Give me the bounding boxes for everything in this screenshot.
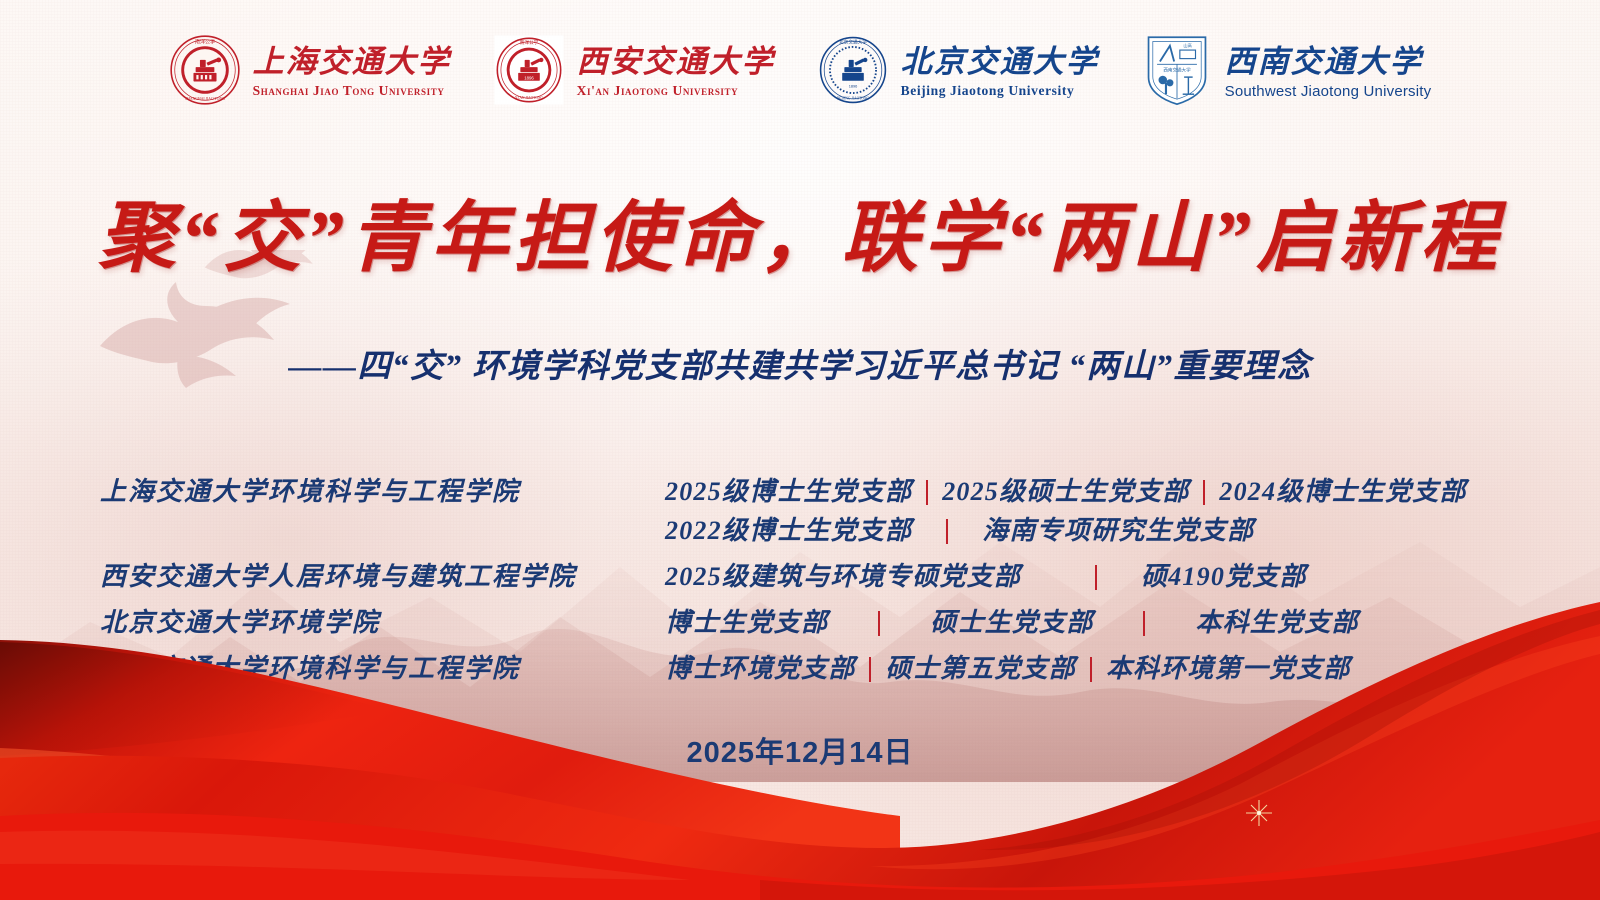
divider-icon bbox=[878, 611, 880, 636]
school-name: 西安交通大学人居环境与建筑工程学院 bbox=[100, 559, 665, 596]
branch-line: 2025级博士生党支部 2025级硕士生党支部 2024级博士生党支部 bbox=[665, 474, 1520, 511]
logo-text-group: 西安交通大学 Xi'an Jiaotong University bbox=[577, 46, 775, 98]
logo-name-cn: 西南交通大学 bbox=[1225, 46, 1423, 77]
branch-item: 2022级博士生党支部 bbox=[665, 513, 912, 550]
divider-icon bbox=[946, 519, 948, 544]
branch-item: 2024级博士生党支部 bbox=[1219, 474, 1466, 511]
poster-canvas: 南洋公学 SHANGHAI JIAO TONG 上海交通大学 Shanghai … bbox=[0, 0, 1600, 900]
logo-xian-jiaotong: 1896 南洋公学 XI'AN JIAOTONG 西安交通大学 Xi'an Ji… bbox=[493, 34, 775, 111]
divider-icon bbox=[1095, 565, 1097, 590]
logo-beijing-jiaotong: 1896 北京交通大学 BEIJING JIAOTONG 北京交通大学 Beij… bbox=[817, 34, 1099, 111]
divider-icon bbox=[1090, 657, 1092, 682]
main-title: 聚“交”青年担使命，联学“两山”启新程 bbox=[0, 176, 1600, 287]
branch-item: 2025级硕士生党支部 bbox=[942, 474, 1189, 511]
branch-list: 上海交通大学环境科学与工程学院 2025级博士生党支部 2025级硕士生党支部 … bbox=[100, 474, 1520, 697]
branch-item: 2025级建筑与环境专硕党支部 bbox=[665, 559, 1021, 596]
branch-group: 2025级建筑与环境专硕党支部 硕4190党支部 bbox=[665, 559, 1520, 596]
branch-row: 北京交通大学环境学院 博士生党支部 硕士生党支部 本科生党支部 bbox=[100, 605, 1520, 642]
branch-item: 博士生党支部 bbox=[665, 605, 828, 642]
logo-name-en: Shanghai Jiao Tong University bbox=[253, 84, 445, 98]
branch-line: 2025级建筑与环境专硕党支部 硕4190党支部 bbox=[665, 559, 1520, 596]
school-name: 西南交通大学环境科学与工程学院 bbox=[100, 651, 665, 688]
divider-icon bbox=[1203, 480, 1205, 505]
branch-line: 2022级博士生党支部 海南专项研究生党支部 bbox=[665, 513, 1520, 550]
svg-text:BEIJING JIAOTONG: BEIJING JIAOTONG bbox=[837, 96, 870, 100]
logo-name-cn: 上海交通大学 bbox=[253, 46, 451, 77]
sub-title: ——四“交” 环境学科党支部共建共学习近平总书记 “两山”重要理念 bbox=[0, 339, 1600, 387]
branch-item: 硕士第五党支部 bbox=[885, 651, 1075, 688]
southwest-jiaotong-emblem-icon: 山高 西南交通大学 bbox=[1141, 33, 1213, 112]
branch-item: 博士环境党支部 bbox=[665, 651, 855, 688]
branch-row: 上海交通大学环境科学与工程学院 2025级博士生党支部 2025级硕士生党支部 … bbox=[100, 474, 1520, 550]
branch-group: 博士环境党支部 硕士第五党支部 本科环境第一党支部 bbox=[665, 651, 1520, 688]
svg-text:XI'AN JIAOTONG: XI'AN JIAOTONG bbox=[515, 95, 544, 99]
divider-icon bbox=[926, 480, 928, 505]
logo-name-en: Beijing Jiaotong University bbox=[901, 84, 1075, 98]
divider-icon bbox=[869, 657, 871, 682]
shanghai-jiaotong-emblem-icon: 南洋公学 SHANGHAI JIAO TONG bbox=[169, 34, 241, 111]
branch-item: 本科生党支部 bbox=[1195, 605, 1358, 642]
xian-jiaotong-emblem-icon: 1896 南洋公学 XI'AN JIAOTONG bbox=[493, 34, 565, 111]
logo-name-en: Southwest Jiaotong University bbox=[1225, 84, 1432, 99]
branch-item: 硕士生党支部 bbox=[930, 605, 1093, 642]
branch-item: 海南专项研究生党支部 bbox=[982, 513, 1254, 550]
logo-name-cn: 北京交通大学 bbox=[901, 46, 1099, 77]
logo-shanghai-jiao-tong: 南洋公学 SHANGHAI JIAO TONG 上海交通大学 Shanghai … bbox=[169, 34, 451, 111]
logo-name-cn: 西安交通大学 bbox=[577, 46, 775, 77]
branch-group: 2025级博士生党支部 2025级硕士生党支部 2024级博士生党支部 2022… bbox=[665, 474, 1520, 550]
school-name: 上海交通大学环境科学与工程学院 bbox=[100, 474, 665, 511]
university-logo-bar: 南洋公学 SHANGHAI JIAO TONG 上海交通大学 Shanghai … bbox=[0, 22, 1600, 122]
logo-southwest-jiaotong: 山高 西南交通大学 西南交通大学 Southwest Jiaotong Univ… bbox=[1141, 33, 1432, 112]
school-name: 北京交通大学环境学院 bbox=[100, 605, 665, 642]
branch-line: 博士环境党支部 硕士第五党支部 本科环境第一党支部 bbox=[665, 651, 1520, 688]
divider-icon bbox=[1143, 611, 1145, 636]
svg-text:山高: 山高 bbox=[1183, 42, 1192, 49]
logo-name-en: Xi'an Jiaotong University bbox=[577, 84, 739, 98]
branch-row: 西安交通大学人居环境与建筑工程学院 2025级建筑与环境专硕党支部 硕4190党… bbox=[100, 559, 1520, 596]
event-date: 2025年12月14日 bbox=[0, 729, 1600, 771]
logo-text-group: 北京交通大学 Beijing Jiaotong University bbox=[901, 46, 1099, 98]
svg-text:SHANGHAI JIAO TONG: SHANGHAI JIAO TONG bbox=[185, 97, 225, 101]
svg-text:1896: 1896 bbox=[524, 75, 534, 80]
svg-text:西南交通大学: 西南交通大学 bbox=[1163, 66, 1191, 73]
svg-text:1896: 1896 bbox=[848, 83, 857, 88]
branch-group: 博士生党支部 硕士生党支部 本科生党支部 bbox=[665, 605, 1520, 642]
beijing-jiaotong-emblem-icon: 1896 北京交通大学 BEIJING JIAOTONG bbox=[817, 34, 889, 111]
logo-text-group: 上海交通大学 Shanghai Jiao Tong University bbox=[253, 46, 451, 98]
logo-text-group: 西南交通大学 Southwest Jiaotong University bbox=[1225, 46, 1432, 99]
branch-item: 2025级博士生党支部 bbox=[665, 474, 912, 511]
branch-line: 博士生党支部 硕士生党支部 本科生党支部 bbox=[665, 605, 1520, 642]
branch-row: 西南交通大学环境科学与工程学院 博士环境党支部 硕士第五党支部 本科环境第一党支… bbox=[100, 651, 1520, 688]
branch-item: 本科环境第一党支部 bbox=[1106, 651, 1351, 688]
branch-item: 硕4190党支部 bbox=[1141, 559, 1307, 596]
